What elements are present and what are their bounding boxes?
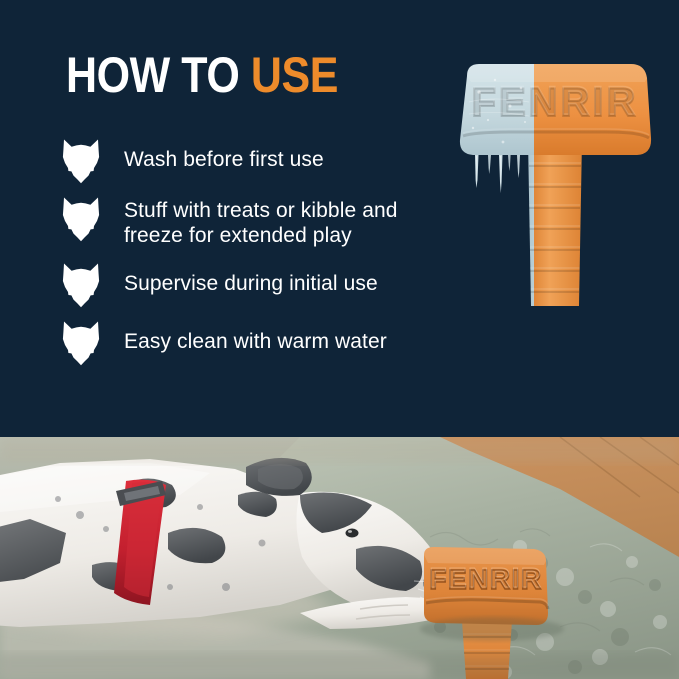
list-item-label: Wash before first use [124,138,324,172]
page-title-primary: HOW TO [66,47,239,103]
list-item: Wash before first use [62,138,482,184]
list-item: Supervise during initial use [62,262,482,308]
list-item: Easy clean with warm water [62,320,482,366]
instructions-panel: HOW TO USE Wash before first use [0,0,679,437]
svg-text:FENRIR: FENRIR [472,79,639,123]
toy-head: FENRIR FENRIR [460,64,651,155]
list-item-label: Supervise during initial use [124,262,378,296]
list-item: Stuff with treats or kibble and freeze f… [62,196,482,248]
svg-text:FENRIR: FENRIR [429,562,542,593]
list-item-label: Stuff with treats or kibble and freeze f… [124,196,398,248]
wolf-head-icon [62,138,100,184]
wolf-head-icon [62,320,100,366]
icicles [475,155,520,193]
dog-chewing-toy-photo: FENRIR FENRIR [0,437,679,679]
instruction-list: Wash before first use Stuff with treats … [62,138,482,378]
product-illustration: FENRIR FENRIR [455,62,655,309]
list-item-label: Easy clean with warm water [124,320,387,354]
wolf-head-icon [62,196,100,242]
page-title-accent: USE [251,47,338,103]
how-to-use-infographic: HOW TO USE Wash before first use [0,0,679,679]
wolf-head-icon [62,262,100,308]
toy-handle [528,140,582,306]
page-title: HOW TO USE [66,50,338,100]
